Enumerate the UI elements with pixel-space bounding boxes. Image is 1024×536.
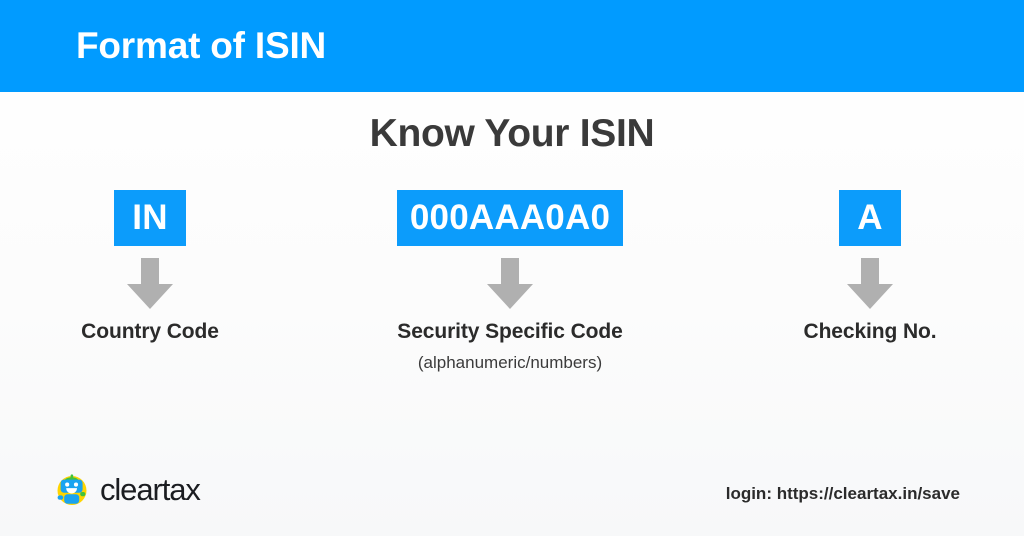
- isin-code-chip-security: 000AAA0A0: [397, 190, 623, 246]
- header-bar: Format of ISIN: [0, 0, 1024, 92]
- isin-segment-country-code: IN Country Code: [20, 190, 280, 344]
- page-title: Know Your ISIN: [0, 112, 1024, 156]
- isin-segment-label-checking: Checking No.: [740, 320, 1000, 344]
- arrow-container-security: [340, 258, 680, 312]
- isin-segment-checking-no: A Checking No.: [740, 190, 1000, 344]
- isin-code-chip-country: IN: [114, 190, 185, 246]
- brand-wordmark: cleartax: [100, 474, 200, 505]
- isin-segment-label-country: Country Code: [20, 320, 280, 344]
- isin-segments: IN Country Code 000AAA0A0 Security Speci…: [0, 190, 1024, 405]
- arrow-down-icon: [846, 258, 894, 310]
- arrow-container-country: [20, 258, 280, 312]
- isin-segment-sublabel-security: (alphanumeric/numbers): [340, 353, 680, 373]
- arrow-down-icon: [126, 258, 174, 310]
- cleartax-robot-logo-icon: [53, 470, 91, 508]
- isin-code-chip-checking: A: [839, 190, 900, 246]
- footer-login-url[interactable]: login: https://cleartax.in/save: [726, 484, 960, 504]
- isin-segment-label-security: Security Specific Code: [340, 320, 680, 344]
- header-title: Format of ISIN: [76, 25, 326, 67]
- isin-format-infographic: Format of ISIN Know Your ISIN IN Country…: [0, 0, 1024, 536]
- arrow-container-checking: [740, 258, 1000, 312]
- isin-segment-security-code: 000AAA0A0 Security Specific Code (alphan…: [340, 190, 680, 373]
- arrow-down-icon: [486, 258, 534, 310]
- brand-logo: cleartax: [53, 470, 200, 508]
